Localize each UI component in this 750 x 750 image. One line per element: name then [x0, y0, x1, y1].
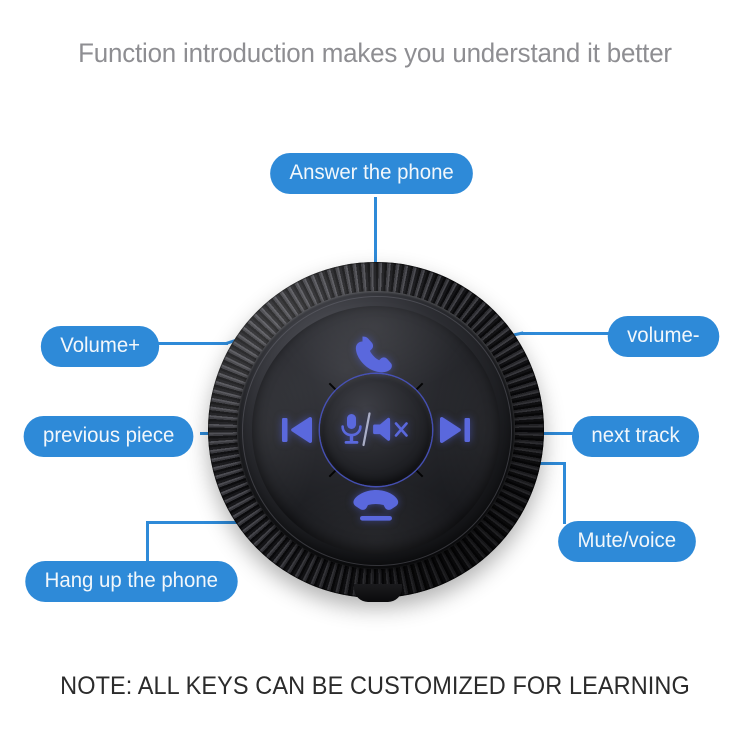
- callout-mute-voice[interactable]: Mute/voice: [558, 521, 695, 562]
- callout-volume-down[interactable]: volume-: [608, 316, 719, 357]
- callout-previous-piece-label: previous piece: [43, 424, 174, 447]
- callout-answer-the-phone-label: Answer the phone: [290, 161, 454, 184]
- phone-hangup-icon[interactable]: [350, 484, 402, 526]
- callout-next-track-label: next track: [591, 424, 679, 447]
- previous-track-icon[interactable]: [278, 412, 318, 448]
- steering-wheel-remote-device: [208, 262, 544, 602]
- footer-note: NOTE: ALL KEYS CAN BE CUSTOMIZED FOR LEA…: [23, 672, 728, 701]
- mic-mute-speaker-icon[interactable]: [338, 412, 414, 448]
- callout-next-track[interactable]: next track: [572, 416, 699, 457]
- phone-answer-icon[interactable]: [352, 336, 400, 376]
- callout-volume-up-label: Volume+: [60, 334, 140, 357]
- callout-mute-voice-label: Mute/voice: [578, 529, 677, 552]
- callout-volume-down-label: volume-: [627, 324, 699, 347]
- next-track-icon[interactable]: [434, 412, 474, 448]
- leader-line-hangup-vertical: [146, 521, 149, 563]
- callout-answer-the-phone[interactable]: Answer the phone: [270, 153, 473, 194]
- callout-previous-piece[interactable]: previous piece: [24, 416, 194, 457]
- center-key-mute-voice[interactable]: [320, 374, 432, 486]
- callout-hang-up-the-phone-label: Hang up the phone: [45, 569, 218, 592]
- leader-line-mute-vertical: [563, 462, 566, 524]
- callout-hang-up-the-phone[interactable]: Hang up the phone: [25, 561, 237, 602]
- callout-volume-up[interactable]: Volume+: [41, 326, 160, 367]
- device-housing-nub: [354, 584, 402, 602]
- page-title: Function introduction makes you understa…: [15, 38, 735, 69]
